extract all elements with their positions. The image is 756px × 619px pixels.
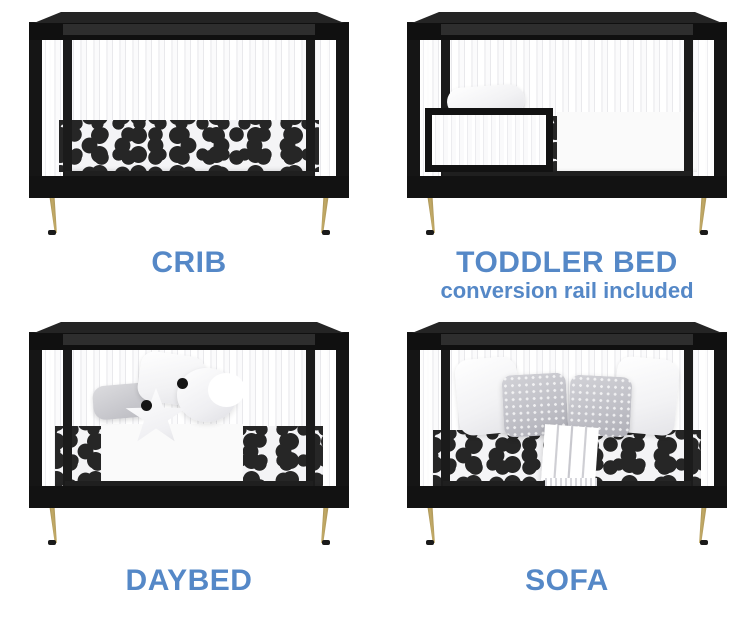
crib-inner-post [684, 344, 693, 496]
leg-foot-cap [426, 540, 434, 545]
conversion-rail-icon [425, 108, 553, 172]
fringed-throw-blanket-icon [541, 424, 599, 484]
sofa-illustration [397, 316, 737, 544]
crib-bottom-rail [29, 176, 349, 198]
crib-corner-post [336, 22, 349, 198]
crib-top-rail-inner [63, 24, 315, 35]
panel-caption: CRIB [151, 248, 226, 279]
panel-daybed[interactable]: DAYBED [0, 310, 378, 619]
panel-label: DAYBED [126, 566, 253, 597]
leg-foot-cap [322, 540, 330, 545]
panel-label: SOFA [525, 566, 609, 597]
panel-crib[interactable]: CRIB [0, 0, 378, 310]
pillow-pom-pom [141, 400, 152, 411]
toddler-bed-illustration [397, 6, 737, 234]
polka-dot-pattern [59, 120, 319, 172]
conversion-rail-frame [425, 108, 553, 172]
crib-top-rail-inner [441, 334, 693, 345]
leg-foot-cap [48, 540, 56, 545]
crib-bottom-rail [29, 486, 349, 508]
crib-frame-icon [407, 322, 727, 508]
crib-inner-post [684, 34, 693, 186]
crib-corner-post [29, 22, 42, 198]
configuration-grid: CRIB [0, 0, 756, 619]
panel-caption: TODDLER BED conversion rail included [440, 248, 693, 302]
crib-inner-post [306, 34, 315, 186]
crib-corner-post [336, 332, 349, 508]
crib-top-rail-inner [63, 334, 315, 345]
crib-frame-icon [29, 322, 349, 508]
crib-inner-post [441, 344, 450, 496]
leg-foot-cap [700, 230, 708, 235]
crib-inner-post [63, 34, 72, 186]
crib-bottom-rail [407, 486, 727, 508]
leg-foot-cap [700, 540, 708, 545]
crib-frame-icon [407, 12, 727, 198]
crib-bottom-rail [407, 176, 727, 198]
leg-foot-cap [322, 230, 330, 235]
crib-frame-icon [29, 12, 349, 198]
crib-top-rail-inner [441, 24, 693, 35]
panel-label: TODDLER BED [440, 248, 693, 279]
polka-dot-mattress-icon [59, 120, 319, 172]
crib-illustration [19, 6, 359, 234]
panel-caption: SOFA [525, 566, 609, 597]
crib-corner-post [407, 22, 420, 198]
panel-sublabel: conversion rail included [440, 280, 693, 302]
moon-pillow-icon [177, 368, 237, 422]
pillow-pom-pom [177, 378, 188, 389]
crib-corner-post [714, 22, 727, 198]
panel-toddler-bed[interactable]: TODDLER BED conversion rail included [378, 0, 756, 310]
daybed-illustration [19, 316, 359, 544]
crib-inner-post [306, 344, 315, 496]
white-blanket-drape [101, 424, 243, 486]
leg-foot-cap [48, 230, 56, 235]
panel-sofa[interactable]: SOFA [378, 310, 756, 619]
plain-sheet [557, 112, 697, 172]
leg-foot-cap [426, 230, 434, 235]
crib-inner-post [63, 344, 72, 496]
crib-corner-post [29, 332, 42, 508]
panel-label: CRIB [151, 248, 226, 279]
crib-corner-post [407, 332, 420, 508]
panel-caption: DAYBED [126, 566, 253, 597]
crib-corner-post [714, 332, 727, 508]
